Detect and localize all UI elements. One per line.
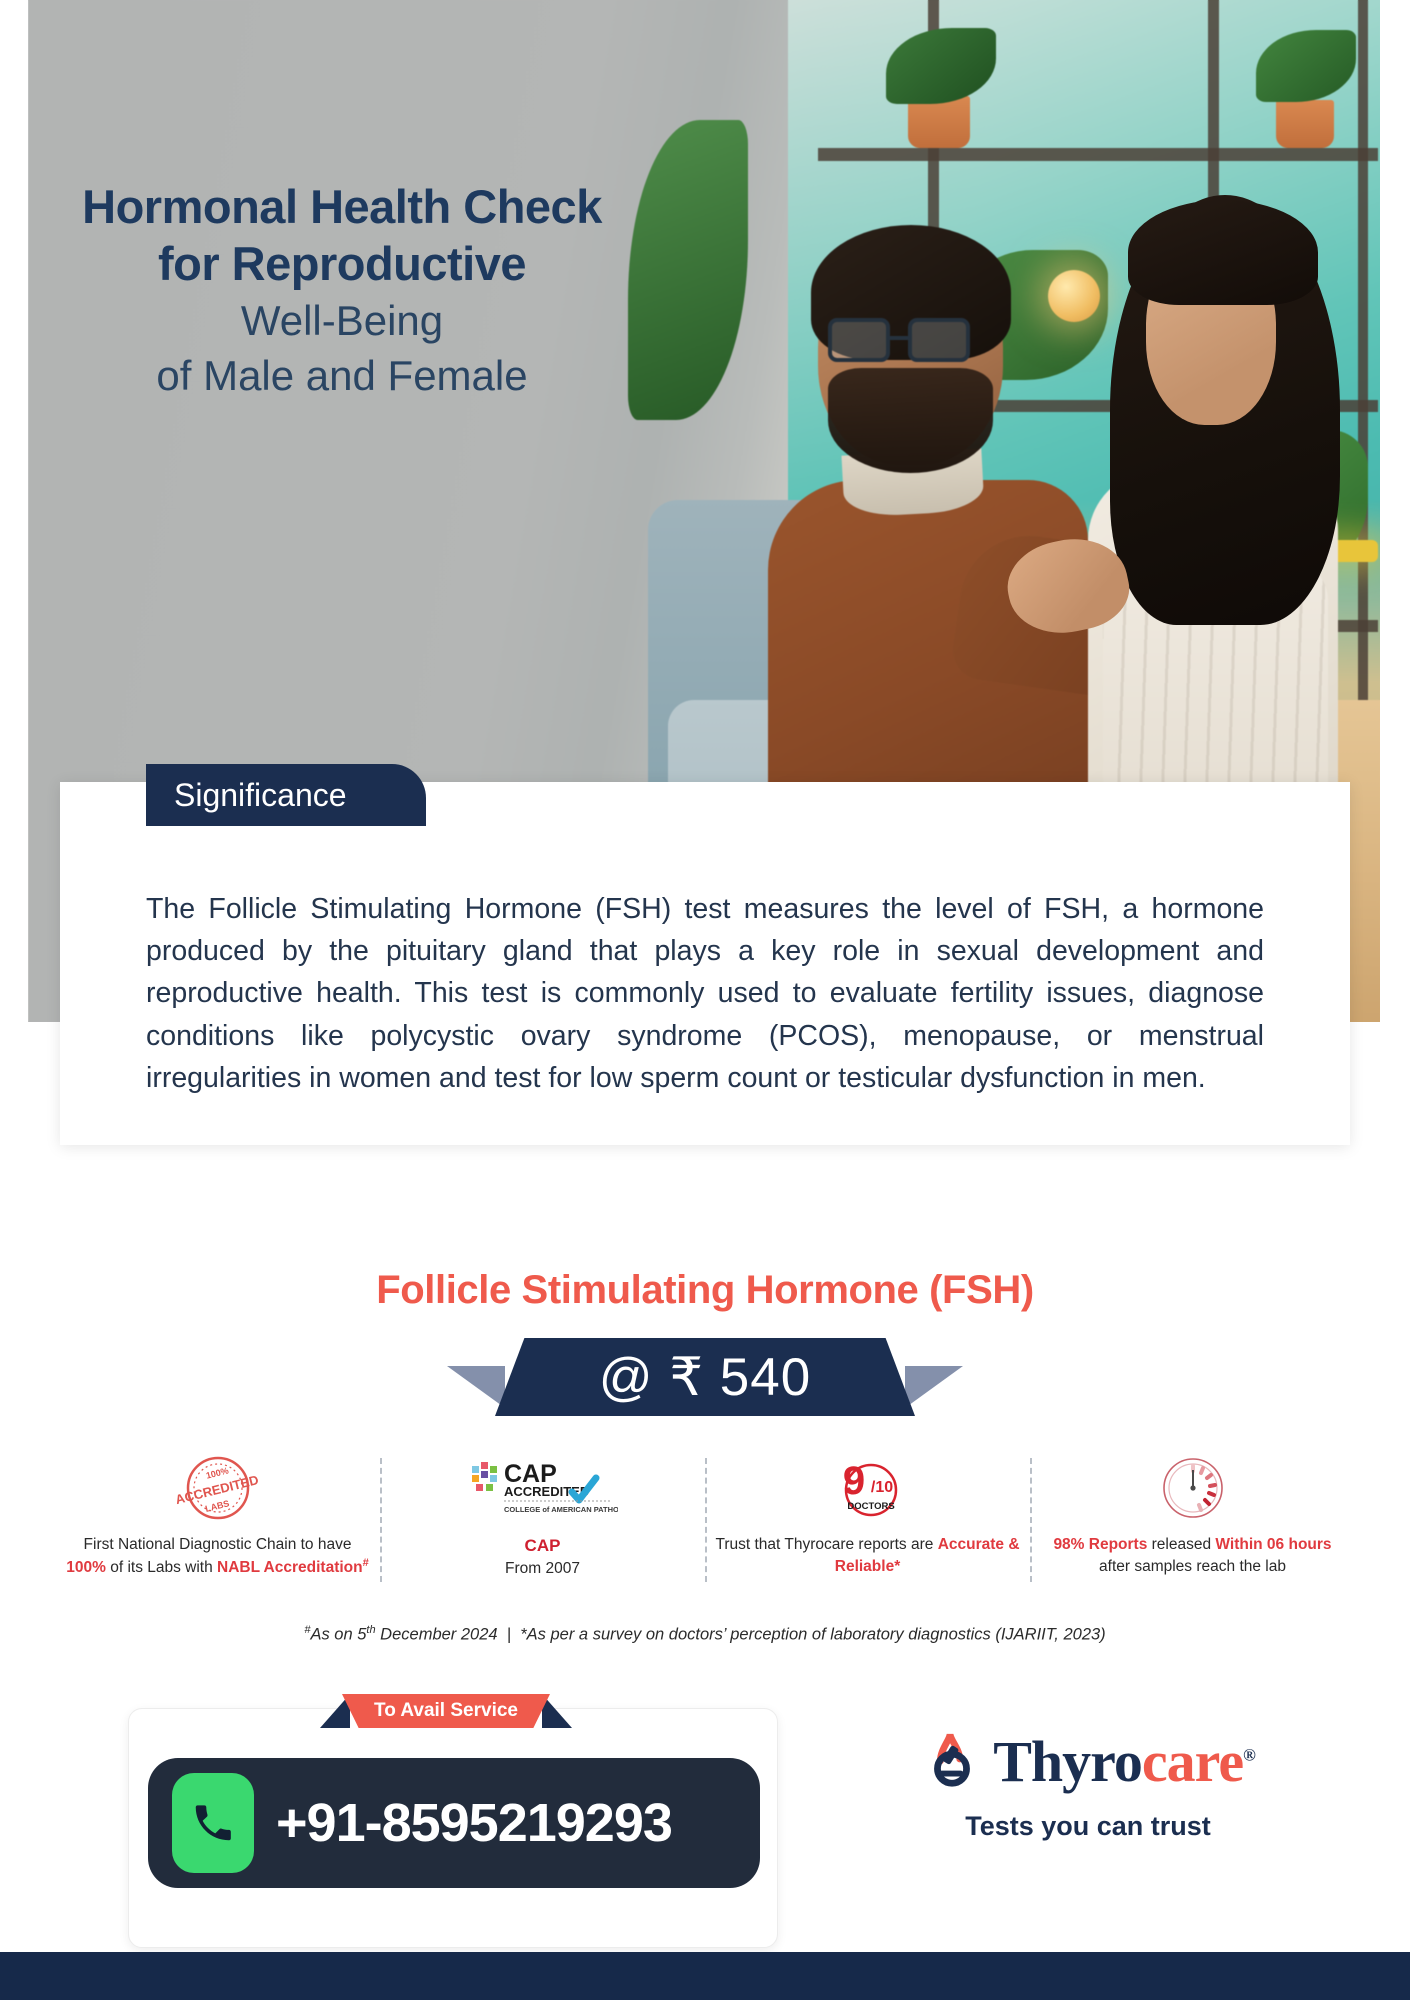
- svg-text:COLLEGE of AMERICAN PATHOLOGIS: COLLEGE of AMERICAN PATHOLOGISTS: [504, 1505, 618, 1514]
- footnote-sup-th: th: [366, 1624, 375, 1636]
- svg-text:LABS: LABS: [204, 1498, 230, 1514]
- badge-nabl-text: First National Diagnostic Chain to have …: [65, 1534, 370, 1579]
- avail-service-ribbon: To Avail Service: [320, 1694, 572, 1728]
- badge3-text-1: Trust that Thyrocare reports are: [715, 1536, 937, 1553]
- badge4-highlight-1: 98% Reports: [1053, 1536, 1147, 1553]
- badge-doctors-trust: 9 /10 DOCTORS Trust that Thyrocare repor…: [705, 1452, 1030, 1578]
- footnote-part3: *As per a survey on doctors’ perception …: [520, 1626, 1105, 1644]
- price-ribbon: @ ₹ 540: [495, 1338, 915, 1416]
- shelf-board: [818, 148, 1378, 161]
- svg-text:DOCTORS: DOCTORS: [847, 1501, 894, 1512]
- headline-line-2: for Reproductive: [62, 235, 622, 292]
- woman-hair-front: [1128, 200, 1318, 305]
- nine-of-ten-doctors-icon: 9 /10 DOCTORS: [715, 1452, 1020, 1524]
- man-eyeglasses: [908, 318, 970, 362]
- significance-tab: Significance: [146, 764, 426, 826]
- svg-text:9: 9: [842, 1459, 864, 1503]
- headline-line-3: Well-Being: [62, 293, 622, 348]
- hero-headline: Hormonal Health Check for Reproductive W…: [62, 178, 622, 404]
- badge-doctors-text: Trust that Thyrocare reports are Accurat…: [715, 1534, 1020, 1578]
- significance-card: Significance The Follicle Stimulating Ho…: [60, 782, 1350, 1145]
- shelf-post: [1358, 0, 1368, 700]
- table-lamp: [1048, 270, 1100, 322]
- brand-logo-row: Thyrocare®: [878, 1728, 1298, 1795]
- footnote-part2: December 2024: [376, 1626, 498, 1644]
- badge1-highlight-2: NABL Accreditation: [217, 1559, 363, 1576]
- headline-line-1: Hormonal Health Check: [62, 178, 622, 235]
- brand-name: Thyrocare®: [993, 1733, 1255, 1791]
- badge4-highlight-2: Within 06 hours: [1215, 1536, 1331, 1553]
- ribbon-tail-right: [905, 1366, 963, 1408]
- footer-bar: [0, 1952, 1410, 2000]
- phone-number: +91-8595219293: [276, 1792, 672, 1854]
- man-eyeglasses: [828, 318, 890, 362]
- svg-text:/10: /10: [870, 1479, 892, 1496]
- brand-logo: Thyrocare® Tests you can trust: [878, 1728, 1298, 1842]
- brand-name-part2: care: [1142, 1729, 1243, 1794]
- accredited-stamp-icon: 100% ACCREDITED LABS: [65, 1452, 370, 1524]
- badge4-text-2: after samples reach the lab: [1040, 1556, 1345, 1578]
- footnote-part1: As on 5: [310, 1626, 366, 1644]
- badge-cap-accredited: CAP ACCREDITED COLLEGE of AMERICAN PATHO…: [380, 1452, 705, 1580]
- phone-handset-icon: [172, 1773, 254, 1873]
- man-eyeglasses-bridge: [890, 336, 908, 340]
- price-label: @ ₹ 540: [495, 1338, 915, 1416]
- badge1-text-2: of its Labs with: [106, 1559, 217, 1576]
- brand-tagline: Tests you can trust: [878, 1811, 1298, 1842]
- badge-report-turnaround: 98% Reports released Within 06 hours aft…: [1030, 1452, 1355, 1578]
- badge1-text-1: First National Diagnostic Chain to have: [84, 1536, 352, 1553]
- badge2-caption-red: CAP: [390, 1534, 695, 1558]
- badge2-caption-black: From 2007: [390, 1558, 695, 1580]
- badge-cap-text: CAP From 2007: [390, 1534, 695, 1580]
- man-beard: [828, 368, 993, 473]
- ribbon-tail-left: [447, 1366, 505, 1408]
- significance-body: The Follicle Stimulating Hormone (FSH) t…: [146, 888, 1264, 1099]
- brand-name-part1: Thyro: [993, 1729, 1142, 1794]
- test-name: Follicle Stimulating Hormone (FSH): [0, 1268, 1410, 1313]
- significance-tab-label: Significance: [174, 777, 347, 814]
- cap-accredited-icon: CAP ACCREDITED COLLEGE of AMERICAN PATHO…: [390, 1452, 695, 1524]
- avail-service-label: To Avail Service: [342, 1694, 550, 1728]
- plant-pot: [1276, 100, 1334, 148]
- svg-text:100%: 100%: [204, 1465, 229, 1480]
- headline-line-4: of Male and Female: [62, 348, 622, 403]
- badge4-text-1: released: [1147, 1536, 1215, 1553]
- footnote: #As on 5th December 2024 | *As per a sur…: [0, 1624, 1410, 1645]
- badge1-highlight-1: 100%: [66, 1559, 106, 1576]
- speedometer-icon: [1040, 1452, 1345, 1524]
- call-now-button[interactable]: +91-8595219293: [148, 1758, 760, 1888]
- brand-registered-mark: ®: [1243, 1745, 1255, 1764]
- badge-nabl-accreditation: 100% ACCREDITED LABS First National Diag…: [55, 1452, 380, 1579]
- badge-turnaround-text: 98% Reports released Within 06 hours aft…: [1040, 1534, 1345, 1578]
- badge1-sup: #: [363, 1557, 369, 1569]
- microscope-droplet-logo-icon: [921, 1728, 983, 1795]
- footnote-separator: |: [507, 1626, 511, 1644]
- trust-badges: 100% ACCREDITED LABS First National Diag…: [55, 1452, 1355, 1580]
- price-ribbon-wrap: @ ₹ 540: [0, 1338, 1410, 1436]
- promo-poster: Hormonal Health Check for Reproductive W…: [0, 0, 1410, 2000]
